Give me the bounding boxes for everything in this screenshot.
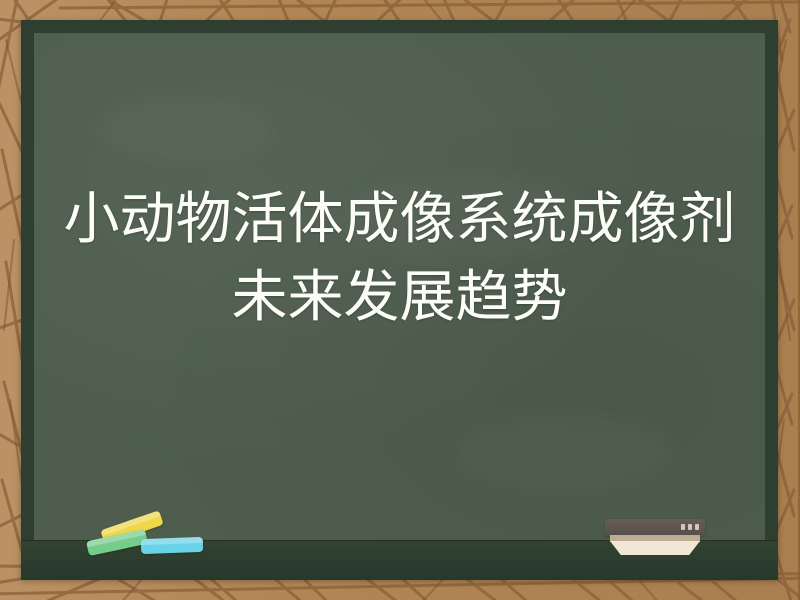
board-title-line-2: 未来发展趋势 <box>232 259 568 337</box>
eraser-dot <box>681 524 685 530</box>
chalkboard-surface: 小动物活体成像系统成像剂 未来发展趋势 <box>34 33 765 540</box>
eraser-dot <box>688 524 692 530</box>
eraser-dots <box>681 524 699 530</box>
board-title: 小动物活体成像系统成像剂 未来发展趋势 <box>34 33 765 540</box>
eraser-handle <box>605 519 705 536</box>
eraser-band <box>610 535 700 542</box>
board-title-line-1: 小动物活体成像系统成像剂 <box>64 181 736 259</box>
eraser-dot <box>695 524 699 530</box>
chalkboard-frame: 小动物活体成像系统成像剂 未来发展趋势 <box>21 20 778 579</box>
chalk-stick-cyan[interactable] <box>141 537 203 554</box>
eraser-felt <box>610 541 700 555</box>
chalkboard-scene: 小动物活体成像系统成像剂 未来发展趋势 <box>0 0 800 600</box>
chalkboard-eraser[interactable] <box>605 519 705 555</box>
